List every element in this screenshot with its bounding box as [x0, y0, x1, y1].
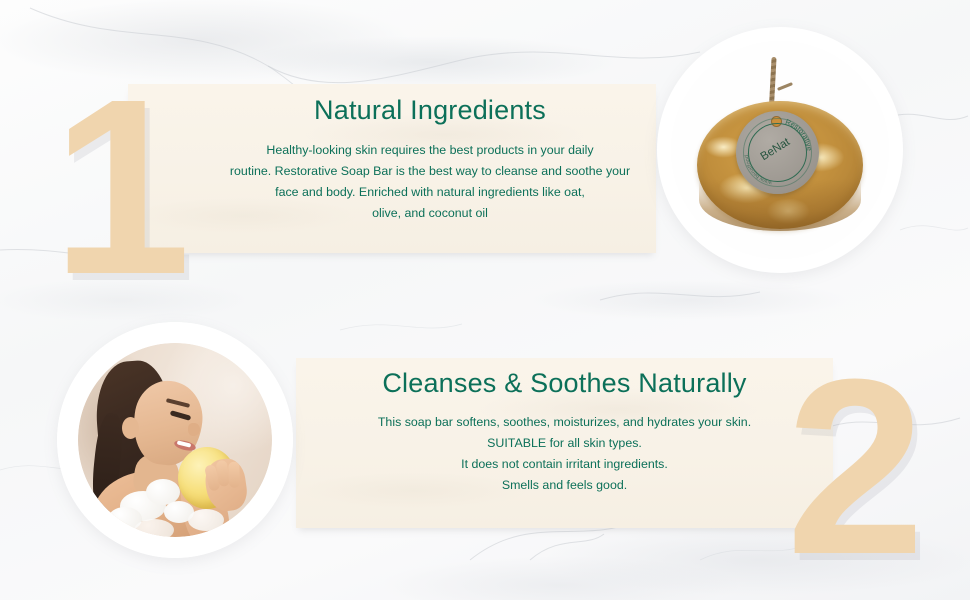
- section-1-body-line-2: routine. Restorative Soap Bar is the bes…: [180, 161, 680, 182]
- lather-foam-5: [188, 509, 224, 531]
- ear: [122, 417, 139, 439]
- section-1-number: 1: [52, 62, 186, 312]
- soap-string-frayed-end: [777, 82, 793, 91]
- section-2-body-line-3: It does not contain irritant ingredients…: [296, 454, 833, 475]
- soap-bar-photo: Restorative Soap Bar www.benatfood.com B…: [657, 27, 903, 273]
- section-1-heading: Natural Ingredients: [180, 95, 680, 126]
- section-1-body-line-4: olive, and coconut oil: [180, 203, 680, 224]
- section-1-body-line-1: Healthy-looking skin requires the best p…: [180, 140, 680, 161]
- section-1-text-block: Natural Ingredients Healthy-looking skin…: [180, 95, 680, 224]
- section-2-body-line-2: SUITABLE for all skin types.: [296, 433, 833, 454]
- lather-foam-6: [134, 519, 174, 537]
- section-2-body-line-4: Smells and feels good.: [296, 475, 833, 496]
- infographic-canvas: 1 Natural Ingredients Healthy-looking sk…: [0, 0, 970, 600]
- soap-bar-illustration: Restorative Soap Bar www.benatfood.com B…: [671, 41, 889, 259]
- woman-showering-illustration: [78, 343, 272, 537]
- section-2-heading: Cleanses & Soothes Naturally: [296, 368, 833, 399]
- section-2-text-block: Cleanses & Soothes Naturally This soap b…: [296, 368, 833, 496]
- soap-label-tag: Restorative Soap Bar www.benatfood.com B…: [736, 111, 819, 194]
- woman-showering-photo: [57, 322, 293, 558]
- finger-3: [228, 462, 240, 488]
- section-1-body-line-3: face and body. Enriched with natural ing…: [180, 182, 680, 203]
- section-2-body-line-1: This soap bar softens, soothes, moisturi…: [296, 412, 833, 433]
